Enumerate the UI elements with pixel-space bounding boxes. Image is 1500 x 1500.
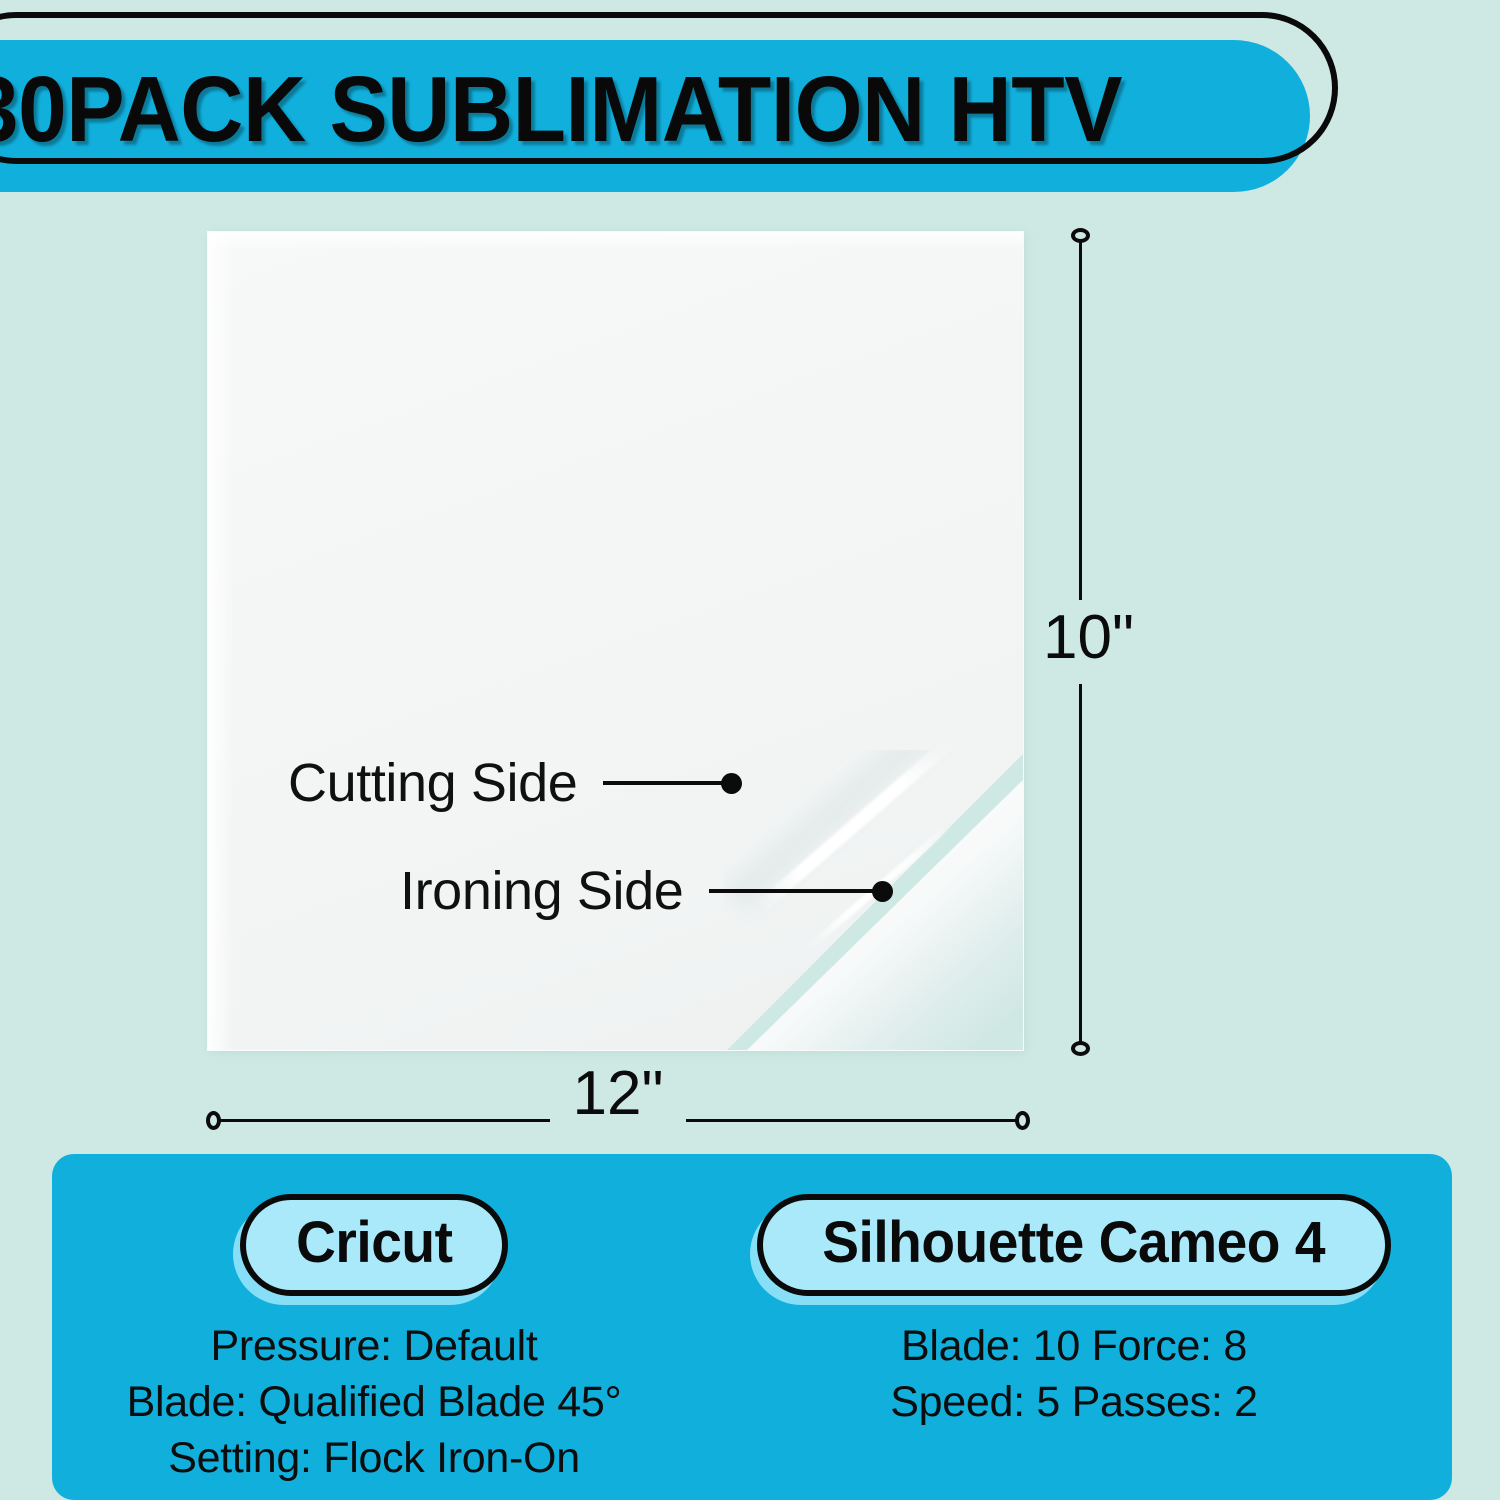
dimension-endpoint-icon (1015, 1111, 1030, 1130)
callout-cutting-side-label: Cutting Side (288, 752, 577, 814)
leader-dot-icon (721, 773, 742, 794)
dimension-line-lower (1079, 684, 1082, 1042)
leader-line-icon (709, 889, 874, 893)
dimension-line-right (686, 1119, 1016, 1122)
spec-line: Blade: Qualified Blade 45° (127, 1374, 622, 1430)
machine-specs-silhouette-cameo-4: Blade: 10 Force: 8 Speed: 5 Passes: 2 (890, 1318, 1258, 1430)
machine-name-badge-silhouette-cameo-4: Silhouette Cameo 4 (757, 1194, 1390, 1296)
dimension-endpoint-icon (1071, 228, 1090, 243)
spec-line: Speed: 5 Passes: 2 (890, 1374, 1258, 1430)
spec-line: Blade: 10 Force: 8 (890, 1318, 1258, 1374)
machine-settings-panel: Cricut Pressure: Default Blade: Qualifie… (52, 1154, 1452, 1500)
product-infographic: 30PACK SUBLIMATION HTV Cutting Side Iron… (0, 0, 1500, 1500)
spec-line: Setting: Flock Iron-On (127, 1430, 622, 1486)
dimension-height: 10" (1065, 228, 1095, 1056)
dimension-height-label: 10" (1043, 602, 1163, 674)
machine-name-silhouette-cameo-4: Silhouette Cameo 4 (823, 1211, 1326, 1275)
machine-specs-cricut: Pressure: Default Blade: Qualified Blade… (127, 1318, 622, 1486)
dimension-line-upper (1079, 242, 1082, 600)
spec-line: Pressure: Default (127, 1318, 622, 1374)
machine-settings-columns: Cricut Pressure: Default Blade: Qualifie… (52, 1154, 1452, 1500)
machine-name-badge-cricut: Cricut (240, 1194, 509, 1296)
badge-outline: Silhouette Cameo 4 (757, 1194, 1390, 1296)
badge-outline: Cricut (240, 1194, 509, 1296)
page-title: 30PACK SUBLIMATION HTV (0, 50, 1122, 168)
leader-line-icon (603, 781, 723, 785)
callout-ironing-side-label: Ironing Side (400, 860, 683, 922)
dimension-width: 12" (206, 1100, 1030, 1140)
header-banner: 30PACK SUBLIMATION HTV (0, 12, 1340, 197)
machine-card-cricut: Cricut Pressure: Default Blade: Qualifie… (52, 1154, 696, 1500)
machine-card-silhouette-cameo-4: Silhouette Cameo 4 Blade: 10 Force: 8 Sp… (696, 1154, 1452, 1500)
callout-ironing-side: Ironing Side (400, 860, 893, 922)
leader-dot-icon (872, 881, 893, 902)
machine-name-cricut: Cricut (296, 1211, 452, 1275)
vinyl-sheet-image (208, 232, 1023, 1050)
dimension-endpoint-icon (1071, 1041, 1090, 1056)
callout-cutting-side: Cutting Side (288, 752, 742, 814)
